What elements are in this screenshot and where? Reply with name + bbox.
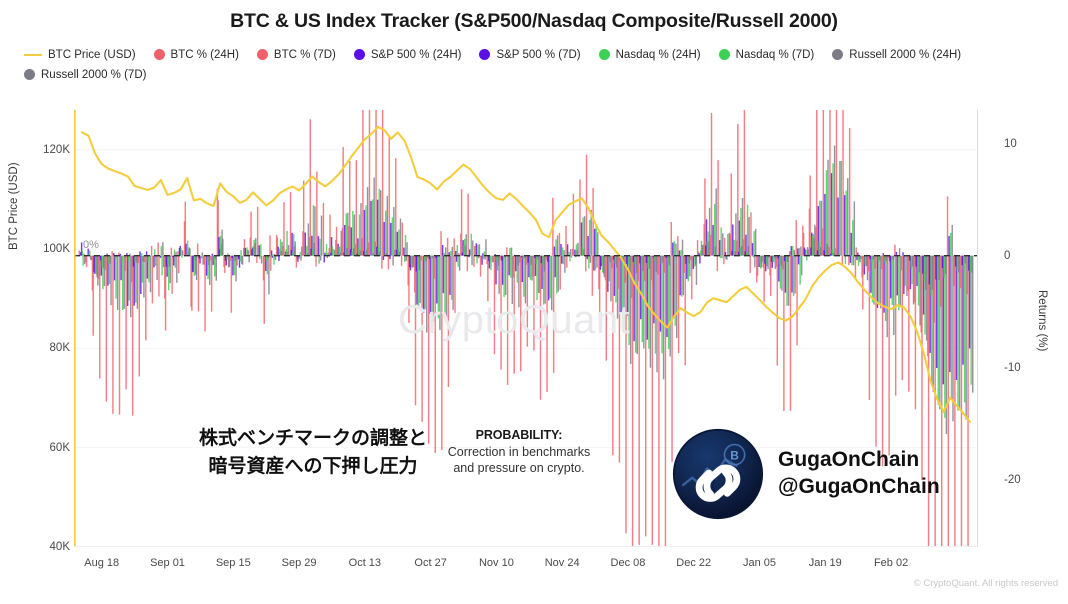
legend-item[interactable]: BTC % (24H) [154, 46, 239, 63]
legend-item-label: Nasdaq % (24H) [616, 49, 701, 61]
brand-block: B GugaOnChain @GugaOnChain [672, 428, 940, 520]
legend-item[interactable]: Nasdaq % (7D) [719, 46, 815, 63]
annotation-english-header: PROBABILITY: [446, 427, 592, 444]
y-axis-right-tick-label: -10 [1004, 362, 1021, 374]
x-axis-tick-label: Sep 29 [282, 557, 317, 569]
annotation-japanese: 株式ベンチマークの調整と 暗号資産への下押し圧力 [188, 425, 438, 480]
legend-item-label: Nasdaq % (7D) [736, 49, 815, 61]
x-axis-tick-label: Sep 01 [150, 557, 185, 569]
brand-name: GugaOnChain [778, 447, 940, 474]
x-axis-tick-label: Feb 02 [874, 557, 908, 569]
legend-item[interactable]: S&P 500 % (24H) [354, 46, 462, 63]
brand-text: GugaOnChain @GugaOnChain [778, 447, 940, 501]
y-axis-left-tick-label: 40K [24, 541, 70, 553]
legend-dot-swatch-icon [832, 49, 843, 60]
x-axis-tick-label: Jan 05 [743, 557, 776, 569]
y-axis-right-ticks: -20-10010 [1004, 0, 1054, 604]
y-axis-left-tick-label: 120K [24, 144, 70, 156]
y-axis-left-title: BTC Price (USD) [8, 234, 20, 250]
legend-dot-swatch-icon [479, 49, 490, 60]
annotation-english-body: Correction in benchmarks and pressure on… [446, 444, 592, 477]
legend-item-label: BTC % (24H) [171, 49, 239, 61]
legend-item-label: Russell 2000 % (24H) [849, 49, 961, 61]
legend-dot-swatch-icon [599, 49, 610, 60]
zero-line-label: 0% [83, 239, 99, 251]
x-axis-tick-label: Oct 27 [414, 557, 446, 569]
legend-dot-swatch-icon [154, 49, 165, 60]
legend-item[interactable]: S&P 500 % (7D) [479, 46, 580, 63]
y-axis-left-ticks: 40K60K80K100K120K [24, 0, 70, 604]
y-axis-left-tick-label: 80K [24, 342, 70, 354]
svg-text:B: B [730, 448, 739, 462]
y-axis-left-tick-label: 60K [24, 442, 70, 454]
chart-legend: BTC Price (USD)BTC % (24H)BTC % (7D)S&P … [24, 46, 1054, 86]
legend-item-label: S&P 500 % (24H) [371, 49, 462, 61]
legend-item[interactable]: Nasdaq % (24H) [599, 46, 701, 63]
x-axis-tick-label: Nov 10 [479, 557, 514, 569]
page-title: BTC & US Index Tracker (S&P500/Nasdaq Co… [0, 10, 1068, 33]
legend-dot-swatch-icon [257, 49, 268, 60]
btc-chain-link-logo-icon: B [672, 428, 764, 520]
brand-handle: @GugaOnChain [778, 474, 940, 501]
annotation-english: PROBABILITY: Correction in benchmarks an… [446, 427, 592, 477]
y-axis-right-tick-label: 10 [1004, 138, 1017, 150]
legend-item[interactable]: Russell 2000 % (24H) [832, 46, 961, 63]
y-axis-right-tick-label: -20 [1004, 474, 1021, 486]
annotation-japanese-line2: 暗号資産への下押し圧力 [188, 453, 438, 481]
copyright-notice: © CryptoQuant. All rights reserved [914, 578, 1058, 589]
x-axis-tick-label: Oct 13 [349, 557, 381, 569]
x-axis-tick-label: Dec 22 [676, 557, 711, 569]
legend-dot-swatch-icon [354, 49, 365, 60]
x-axis-tick-label: Nov 24 [545, 557, 580, 569]
legend-item[interactable]: BTC % (7D) [257, 46, 336, 63]
x-axis-tick-label: Dec 08 [611, 557, 646, 569]
x-axis-tick-label: Aug 18 [84, 557, 119, 569]
legend-dot-swatch-icon [719, 49, 730, 60]
legend-item-label: S&P 500 % (7D) [496, 49, 580, 61]
legend-item-label: BTC % (7D) [274, 49, 336, 61]
x-axis-ticks: Aug 18Sep 01Sep 15Sep 29Oct 13Oct 27Nov … [0, 557, 1068, 575]
x-axis-tick-label: Jan 19 [809, 557, 842, 569]
chart-screenshot: BTC & US Index Tracker (S&P500/Nasdaq Co… [0, 0, 1068, 604]
y-axis-right-tick-label: 0 [1004, 250, 1010, 262]
annotation-japanese-line1: 株式ベンチマークの調整と [188, 425, 438, 453]
x-axis-tick-label: Sep 15 [216, 557, 251, 569]
y-axis-left-tick-label: 100K [24, 243, 70, 255]
